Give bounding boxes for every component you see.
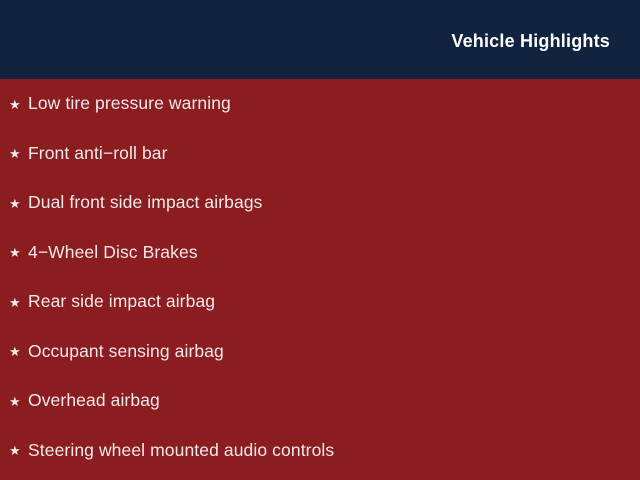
list-item-label: Dual front side impact airbags — [28, 193, 263, 212]
star-icon: ★ — [9, 246, 28, 259]
list-item-label: Low tire pressure warning — [28, 94, 231, 113]
list-item: ★ Low tire pressure warning — [0, 79, 640, 129]
list-item-label: Rear side impact airbag — [28, 292, 215, 311]
star-icon: ★ — [9, 395, 28, 408]
star-icon: ★ — [9, 345, 28, 358]
list-item: ★ Steering wheel mounted audio controls — [0, 426, 640, 476]
star-icon: ★ — [9, 444, 28, 457]
vehicle-highlights-list: ★ Low tire pressure warning ★ Front anti… — [0, 79, 640, 475]
page-title: Vehicle Highlights — [451, 32, 610, 50]
list-item-label: Overhead airbag — [28, 391, 160, 410]
list-item: ★ Rear side impact airbag — [0, 277, 640, 327]
star-icon: ★ — [9, 98, 28, 111]
slide-header: Vehicle Highlights — [0, 0, 640, 79]
highlights-panel: ★ Low tire pressure warning ★ Front anti… — [0, 79, 640, 480]
star-icon: ★ — [9, 296, 28, 309]
list-item: ★ 4−Wheel Disc Brakes — [0, 228, 640, 278]
star-icon: ★ — [9, 197, 28, 210]
list-item-label: Occupant sensing airbag — [28, 342, 224, 361]
list-item: ★ Dual front side impact airbags — [0, 178, 640, 228]
list-item-label: Front anti−roll bar — [28, 144, 168, 163]
list-item: ★ Overhead airbag — [0, 376, 640, 426]
star-icon: ★ — [9, 147, 28, 160]
list-item-label: 4−Wheel Disc Brakes — [28, 243, 198, 262]
list-item: ★ Occupant sensing airbag — [0, 327, 640, 377]
vehicle-highlights-slide: Vehicle Highlights ★ Low tire pressure w… — [0, 0, 640, 480]
list-item: ★ Front anti−roll bar — [0, 129, 640, 179]
list-item-label: Steering wheel mounted audio controls — [28, 441, 334, 460]
